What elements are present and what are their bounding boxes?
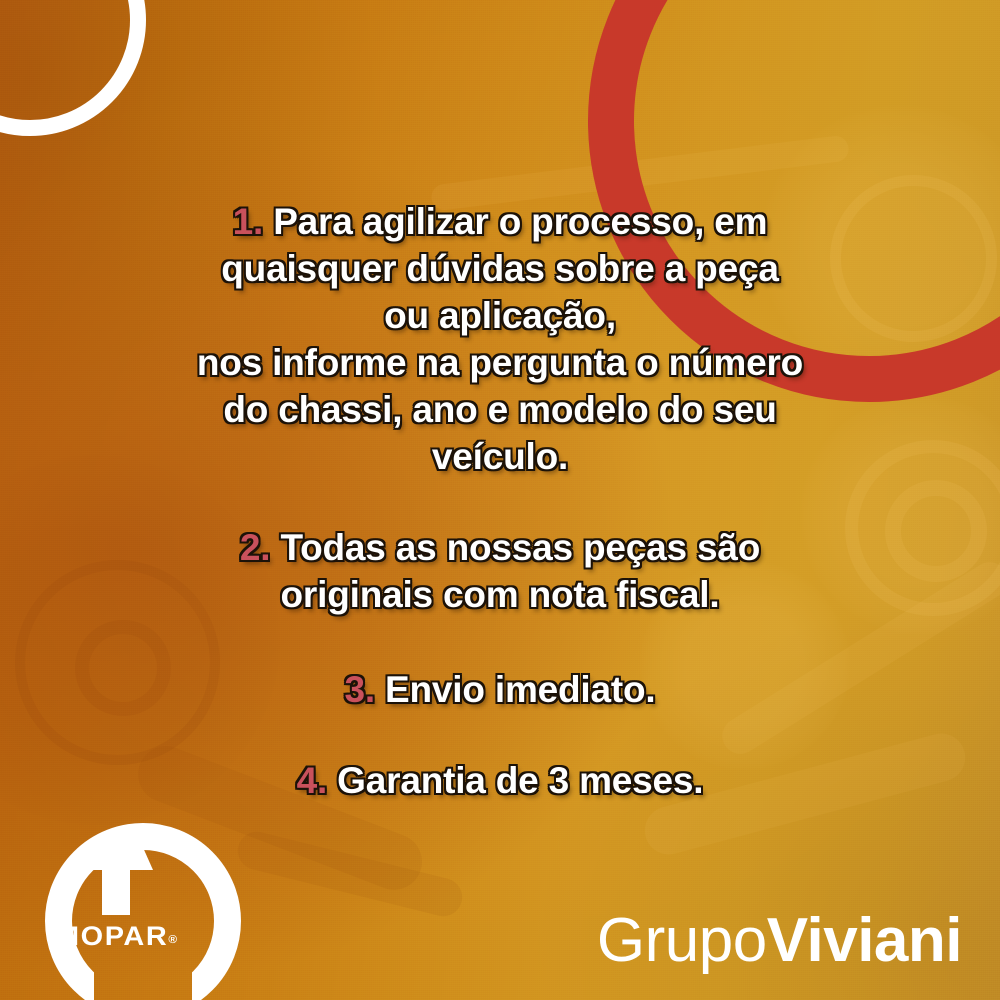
mopar-omega-icon (45, 823, 187, 915)
instruction-item-1: 1. Para agilizar o processo, em quaisque… (0, 198, 1000, 480)
instruction-line: veículo. (0, 433, 1000, 480)
registered-trademark-icon: ® (168, 934, 177, 946)
mopar-stem-shape (102, 849, 130, 915)
instruction-number: 4. (297, 760, 327, 801)
instruction-item-4: 4. Garantia de 3 meses. (0, 757, 1000, 804)
spacer (0, 480, 1000, 524)
instruction-item-2: 2. Todas as nossas peças são originais c… (0, 524, 1000, 618)
instruction-line: 1. Para agilizar o processo, em (0, 198, 1000, 245)
instruction-text: Para agilizar o processo, em (263, 201, 767, 242)
brand-name: Viviani (767, 906, 962, 975)
mopar-wordmark: MOPAR® (37, 921, 195, 952)
mopar-wordmark-text: MOPAR (55, 921, 168, 951)
instruction-number: 1. (233, 201, 263, 242)
instruction-text: Garantia de 3 meses. (327, 760, 703, 801)
spacer (0, 713, 1000, 757)
instruction-text: Envio imediato. (375, 669, 656, 710)
instructions-block: 1. Para agilizar o processo, em quaisque… (0, 198, 1000, 804)
instruction-line: do chassi, ano e modelo do seu (0, 386, 1000, 433)
grupo-viviani-brand: GrupoViviani (597, 910, 962, 972)
instruction-line: 2. Todas as nossas peças são (0, 524, 1000, 571)
promo-poster: 1. Para agilizar o processo, em quaisque… (0, 0, 1000, 1000)
instruction-number: 3. (345, 669, 375, 710)
instruction-item-3: 3. Envio imediato. (0, 666, 1000, 713)
instruction-line: ou aplicação, (0, 292, 1000, 339)
instruction-line: 4. Garantia de 3 meses. (0, 757, 1000, 804)
mopar-logo: MOPAR® (42, 823, 190, 952)
instruction-line: originais com nota fiscal. (0, 571, 1000, 618)
instruction-number: 2. (240, 527, 270, 568)
instruction-text: Todas as nossas peças são (270, 527, 760, 568)
instruction-line: nos informe na pergunta o número (0, 339, 1000, 386)
brand-prefix: Grupo (597, 906, 767, 975)
instruction-line: quaisquer dúvidas sobre a peça (0, 245, 1000, 292)
instruction-line: 3. Envio imediato. (0, 666, 1000, 713)
spacer (0, 618, 1000, 666)
